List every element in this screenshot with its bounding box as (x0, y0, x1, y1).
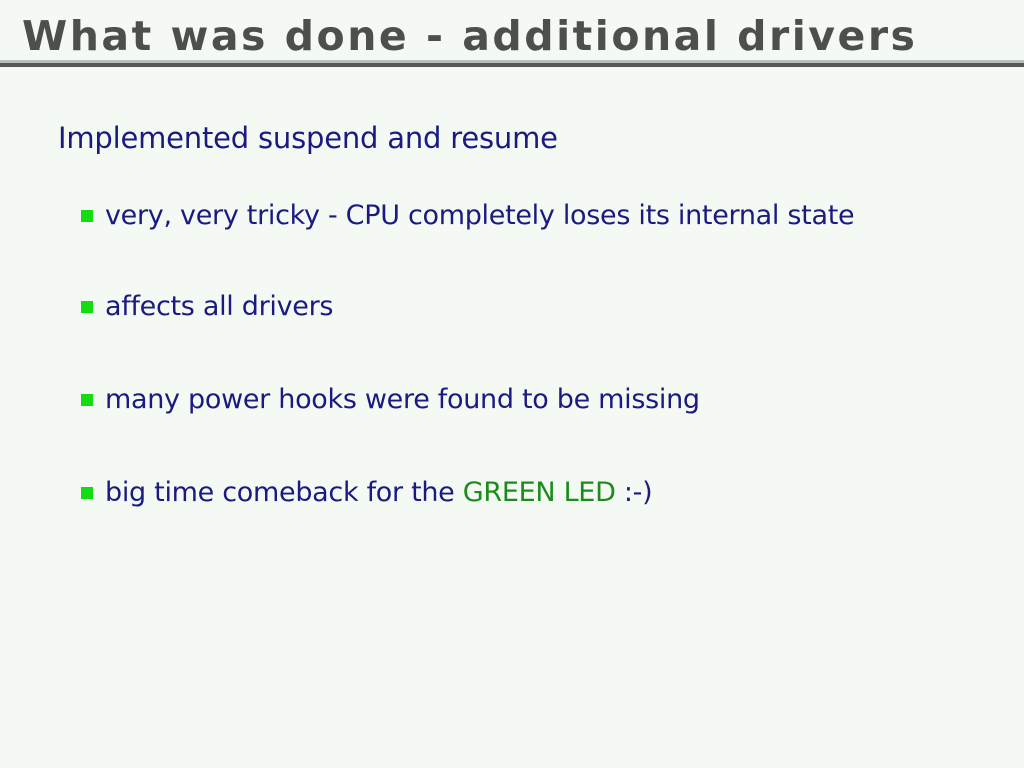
list-item-label-highlight: GREEN LED (463, 477, 616, 508)
green-square-bullet-icon (81, 210, 93, 222)
list-item-label: affects all drivers (105, 291, 333, 322)
lead-statement: Implemented suspend and resume (58, 118, 1024, 158)
title-divider (0, 60, 1024, 67)
list-item-label-suffix: :-) (616, 477, 653, 508)
list-item-label-prefix: big time comeback for the (105, 477, 463, 508)
green-square-bullet-icon (81, 487, 93, 499)
slide-body: Implemented suspend and resume very, ver… (0, 118, 1024, 512)
list-item: affects all drivers (81, 287, 915, 326)
slide-title: What was done - additional drivers (22, 12, 1002, 60)
bullet-list: very, very tricky - CPU completely loses… (0, 196, 1024, 512)
green-square-bullet-icon (81, 301, 93, 313)
list-item: very, very tricky - CPU completely loses… (81, 196, 915, 235)
green-square-bullet-icon (81, 394, 93, 406)
list-item: big time comeback for the GREEN LED :-) (81, 473, 915, 512)
title-divider-shadow (0, 63, 1024, 67)
list-item-label: very, very tricky - CPU completely loses… (105, 200, 854, 231)
list-item: many power hooks were found to be missin… (81, 380, 915, 419)
list-item-label: many power hooks were found to be missin… (105, 384, 700, 415)
presentation-slide: What was done - additional drivers Imple… (0, 0, 1024, 768)
